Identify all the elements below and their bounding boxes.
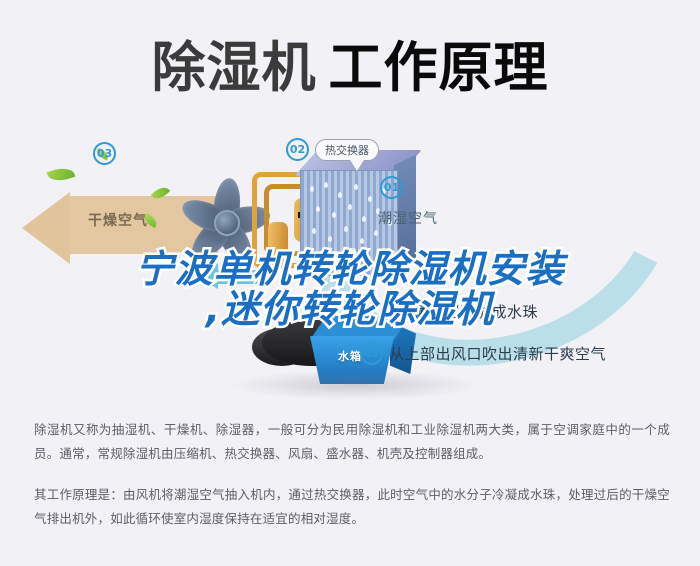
condensation-droplet <box>344 226 348 232</box>
callout-01-humid-air: 01 潮湿空气 <box>380 176 403 199</box>
condensation-droplet <box>374 230 378 236</box>
body-copy: 除湿机又称为抽湿机、干燥机、除湿器，一般可分为民用除湿机和工业除湿机两大类，属于… <box>34 418 670 540</box>
condensation-droplet <box>348 204 352 210</box>
condensation-droplet <box>362 216 366 222</box>
body-paragraph-1: 除湿机又称为抽湿机、干燥机、除湿器，一般可分为民用除湿机和工业除湿机两大类，属于… <box>34 418 670 467</box>
heat-exchanger-bubble: 热交换器 <box>315 139 379 161</box>
machine-shadow <box>230 370 480 400</box>
poster-page: 除湿机 工作原理 干燥空气 <box>0 0 700 566</box>
step-label: 从上部出风口吹出清新干爽空气 <box>389 343 606 364</box>
condensation-droplet <box>336 258 340 264</box>
condensation-droplet <box>316 206 320 212</box>
condensation-droplet <box>360 238 364 244</box>
water-tank-label: 水箱 <box>338 348 362 364</box>
dry-air-label: 干燥空气 <box>88 210 148 230</box>
step-02-condensation: 02 蒸发器冷凝成水珠 <box>385 300 538 323</box>
humid-air-label: 潮湿空气 <box>378 208 438 228</box>
condensation-droplet <box>380 252 384 258</box>
page-title: 除湿机 工作原理 <box>0 28 700 108</box>
condensation-droplet <box>354 184 358 190</box>
callout-02-heat-exchanger: 02 热交换器 <box>286 138 379 161</box>
step-03-outlet: 03 从上部出风口吹出清新干爽空气 <box>360 342 606 365</box>
step-number-badge: 03 <box>360 342 383 365</box>
page-title-part-one: 除湿机 <box>152 41 317 95</box>
page-title-part-two: 工作原理 <box>329 41 549 95</box>
condensation-droplet <box>324 182 328 188</box>
dry-air-arrow-head <box>22 192 70 264</box>
condensation-droplet <box>328 236 332 242</box>
condensation-droplet <box>366 260 370 266</box>
condensation-droplet <box>352 248 356 254</box>
condensation-droplet <box>312 228 316 234</box>
callout-03-dry-air: 03 干燥空气 <box>93 142 116 165</box>
callout-number-badge: 01 <box>380 176 403 199</box>
condensation-droplet <box>338 192 342 198</box>
condensation-droplet <box>368 196 372 202</box>
body-paragraph-2: 其工作原理是：由风机将潮湿空气抽入机内，通过热交换器，此时空气中的水分子冷凝成水… <box>34 483 670 532</box>
callout-number-badge: 03 <box>93 142 116 165</box>
step-label: 蒸发器冷凝成水珠 <box>414 301 538 322</box>
condensation-droplet <box>332 212 336 218</box>
condensation-droplet <box>310 186 314 192</box>
compressor-cylinder <box>268 222 288 262</box>
fan-hub <box>214 210 240 236</box>
illustration-stage: 干燥空气 <box>0 120 700 405</box>
condensation-droplet <box>320 250 324 256</box>
callout-number-badge: 02 <box>286 138 309 161</box>
